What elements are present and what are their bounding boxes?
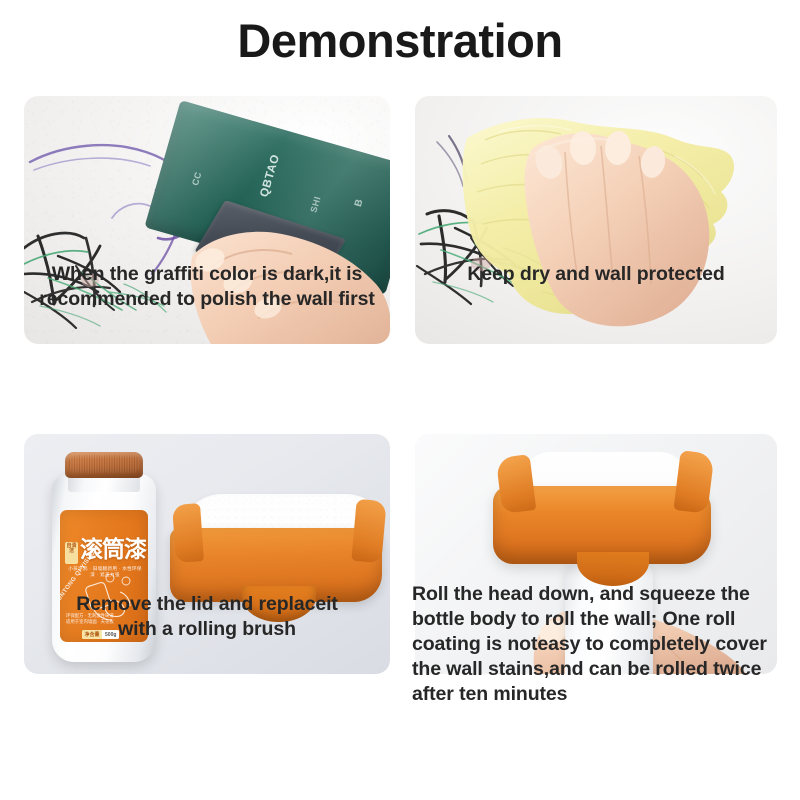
- bottle-cap: [65, 452, 143, 478]
- caption-line: the wall stains,and can be rolled twice: [412, 657, 784, 682]
- caption-line: recommended to polish the wall first: [24, 287, 390, 312]
- hand-wiping-wall: [415, 96, 777, 344]
- roller-arm-left: [172, 503, 204, 563]
- caption-line: When the graffiti color is dark,it is: [24, 262, 390, 287]
- caption-line: after ten minutes: [412, 682, 784, 707]
- hand-holding-sanding-block: [180, 172, 390, 344]
- caption-line: coating is noteasy to completely cover: [412, 632, 784, 657]
- caption-line: Keep dry and wall protected: [415, 262, 777, 287]
- label-badge: 自清洁: [65, 542, 78, 564]
- roller-brush-head: [493, 452, 715, 580]
- caption-polish-wall: When the graffiti color is dark,it is re…: [24, 262, 390, 312]
- page-title: Demonstration: [0, 14, 800, 68]
- caption-line: with a rolling brush: [24, 617, 390, 642]
- demonstration-page: Demonstration: [0, 0, 800, 800]
- caption-line: bottle body to roll the wall; One roll: [412, 607, 784, 632]
- caption-keep-dry: Keep dry and wall protected: [415, 262, 777, 287]
- caption-line: Roll the head down, and squeeze the: [412, 582, 784, 607]
- caption-line: Remove the lid and replaceit: [24, 592, 390, 617]
- caption-replace-lid: Remove the lid and replaceit with a roll…: [24, 592, 390, 642]
- panel-keep-dry: [415, 96, 777, 344]
- caption-roll-wall: Roll the head down, and squeeze the bott…: [412, 582, 784, 707]
- roller-arm-right: [351, 499, 386, 563]
- photo-keep-dry: [415, 96, 777, 344]
- roller-arm-left: [496, 454, 537, 514]
